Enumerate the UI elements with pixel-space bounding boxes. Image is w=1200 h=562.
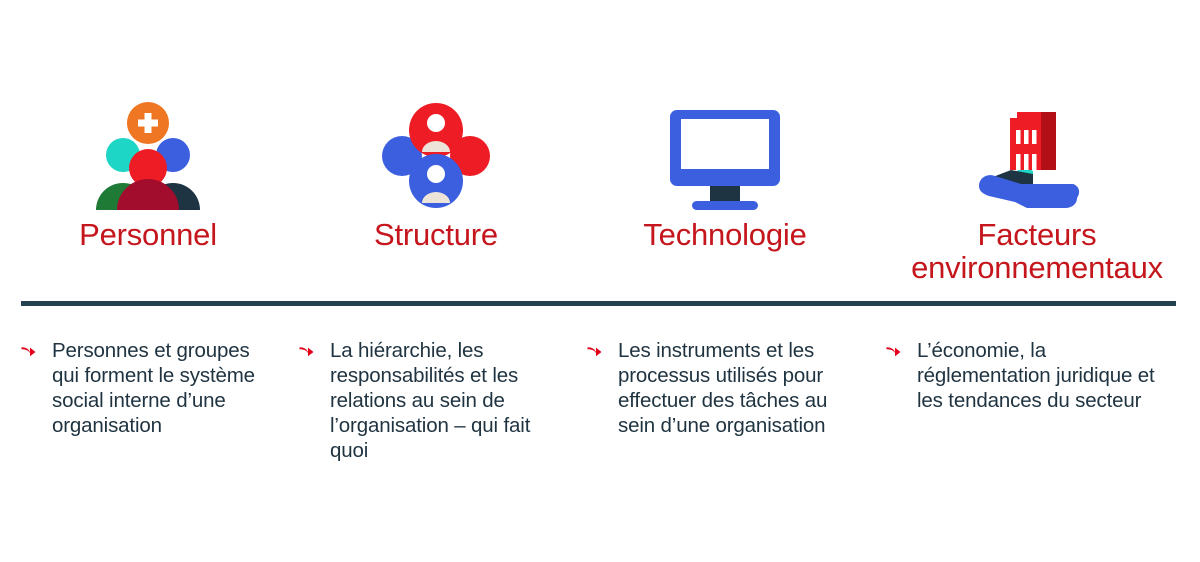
red-arrow-bullet-icon [885,343,907,360]
pillar-column-facteurs-environnementaux: Facteurs environnementaux [874,96,1200,292]
description-item-facteurs-environnementaux: L’économie, la réglementation juridique … [885,338,1185,463]
description-text-structure: La hiérarchie, les responsabilités et le… [320,338,568,463]
description-text-facteurs-environnementaux: L’économie, la réglementation juridique … [907,338,1172,413]
description-item-structure: La hiérarchie, les responsabilités et le… [298,338,586,463]
pillar-column-personnel: Personnel [0,96,296,292]
pillar-title-technologie: Technologie [643,218,806,251]
red-arrow-bullet-icon [298,343,320,360]
description-text-personnel: Personnes et groupes qui forment le syst… [42,338,280,438]
red-arrow-bullet-icon [586,343,608,360]
desktop-monitor-icon [666,96,784,210]
pillar-column-technologie: Technologie [576,96,874,292]
hand-holding-building-icon [977,96,1097,210]
people-group-plus-icon [88,96,208,210]
red-arrow-bullet-icon [20,343,42,360]
pillar-icon-row: Personnel [0,96,1200,292]
description-item-personnel: Personnes et groupes qui forment le syst… [0,338,298,463]
infographic-root: Personnel [0,0,1200,562]
network-hierarchy-icon [380,96,492,210]
pillar-title-facteurs-environnementaux: Facteurs environnementaux [911,218,1163,284]
pillar-title-personnel: Personnel [79,218,217,251]
pillar-description-row: Personnes et groupes qui forment le syst… [0,338,1200,463]
pillar-title-structure: Structure [374,218,498,251]
description-text-technologie: Les instruments et les processus utilisé… [608,338,866,438]
horizontal-divider [21,301,1176,306]
description-item-technologie: Les instruments et les processus utilisé… [586,338,885,463]
pillar-column-structure: Structure [296,96,576,292]
